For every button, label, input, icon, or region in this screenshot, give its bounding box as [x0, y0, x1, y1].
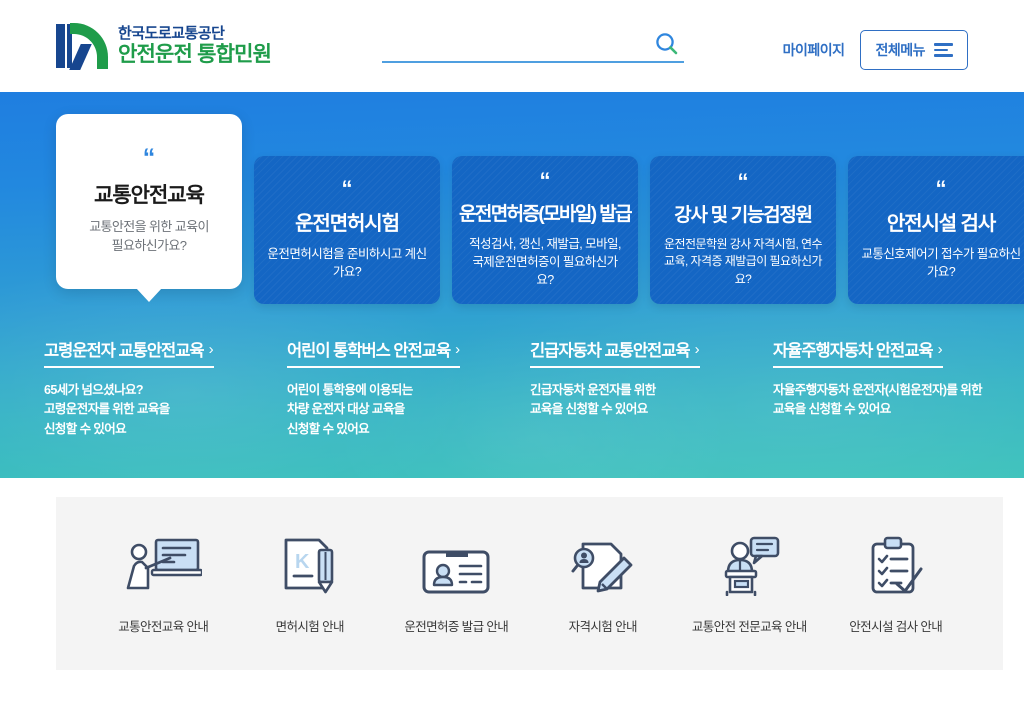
- guide-icon-panel: 교통안전교육 안내 K 면허시험 안내: [56, 497, 1003, 670]
- quote-mark-icon: “: [342, 179, 353, 199]
- chevron-right-icon: ›: [209, 342, 214, 357]
- service-card-desc: 교통안전을 위한 교육이 필요하신가요?: [89, 218, 209, 256]
- service-card[interactable]: “ 운전면허시험 운전면허시험을 준비하시고 계신가요?: [254, 156, 440, 304]
- service-card-title: 운전면허시험: [295, 207, 399, 236]
- icon-box: [718, 532, 780, 596]
- icon-box: [421, 532, 491, 596]
- guide-item-license-exam[interactable]: K 면허시험 안내: [237, 532, 384, 635]
- guide-item-label: 면허시험 안내: [276, 616, 344, 635]
- service-card-active[interactable]: “ 교통안전교육 교통안전을 위한 교육이 필요하신가요?: [56, 114, 242, 289]
- search-button[interactable]: [650, 28, 684, 62]
- quick-link-desc: 65세가 넘으셨나요? 고령운전자를 위한 교육을 신청할 수 있어요: [44, 381, 271, 439]
- logo-org-name: 한국도로교통공단: [118, 25, 271, 42]
- quick-link-autonomous-vehicle[interactable]: 자율주행자동차 안전교육 › 자율주행자동차 운전자(시험운전자)를 위한 교육…: [765, 337, 1008, 439]
- site-header: 한국도로교통공단 안전운전 통합민원 마이페이지 전체메뉴: [0, 0, 1024, 92]
- lecturer-podium-icon: [718, 536, 780, 596]
- quick-link-emergency-vehicle[interactable]: 긴급자동차 교통안전교육 › 긴급자동차 운전자를 위한 교육을 신청할 수 있…: [522, 337, 765, 439]
- quick-link-desc: 긴급자동차 운전자를 위한 교육을 신청할 수 있어요: [530, 381, 757, 420]
- guide-item-label: 교통안전 전문교육 안내: [692, 616, 807, 635]
- quick-link-title: 자율주행자동차 안전교육: [773, 337, 933, 361]
- service-card[interactable]: “ 안전시설 검사 교통신호제어기 접수가 필요하신가요?: [848, 156, 1024, 304]
- svg-text:K: K: [295, 551, 310, 573]
- service-card-title: 강사 및 기능검정원: [674, 200, 811, 227]
- all-menu-label: 전체메뉴: [875, 40, 925, 60]
- quote-mark-icon: “: [738, 172, 749, 192]
- guide-item-label: 자격시험 안내: [569, 616, 637, 635]
- service-card-desc: 적성검사, 갱신, 재발급, 모바일, 국제운전면허증이 필요하신가요?: [464, 235, 626, 289]
- logo-text: 한국도로교통공단 안전운전 통합민원: [118, 25, 271, 67]
- service-card-list: “ 교통안전교육 교통안전을 위한 교육이 필요하신가요? “ 운전면허시험 운…: [56, 114, 1024, 304]
- search-icon: [654, 31, 680, 57]
- quick-link-desc: 어린이 통학용에 이용되는 차량 운전자 대상 교육을 신청할 수 있어요: [287, 381, 514, 439]
- quick-link-title: 어린이 통학버스 안전교육: [287, 337, 450, 361]
- quote-mark-icon: “: [143, 147, 156, 170]
- guide-item-qualification-exam[interactable]: 자격시험 안내: [530, 532, 677, 635]
- mypage-link[interactable]: 마이페이지: [783, 40, 845, 60]
- guide-item-label: 교통안전교육 안내: [118, 616, 208, 635]
- site-logo[interactable]: 한국도로교통공단 안전운전 통합민원: [56, 22, 271, 70]
- guide-section: 교통안전교육 안내 K 면허시험 안내: [0, 478, 1024, 707]
- card-pointer: [136, 288, 162, 302]
- quick-link-header: 긴급자동차 교통안전교육 ›: [530, 337, 700, 368]
- chevron-right-icon: ›: [938, 342, 943, 357]
- search-input[interactable]: [382, 34, 684, 63]
- service-card-title: 안전시설 검사: [887, 207, 995, 236]
- document-pencil-icon: K: [279, 536, 341, 596]
- search-container: [382, 34, 684, 63]
- hero-section: “ 교통안전교육 교통안전을 위한 교육이 필요하신가요? “ 운전면허시험 운…: [0, 92, 1024, 478]
- quote-mark-icon: “: [936, 179, 947, 199]
- guide-item-label: 운전면허증 발급 안내: [404, 616, 508, 635]
- icon-box: [867, 532, 925, 596]
- logo-service-name: 안전운전 통합민원: [118, 43, 271, 67]
- quick-link-header: 고령운전자 교통안전교육 ›: [44, 337, 214, 368]
- service-card-desc: 교통신호제어기 접수가 필요하신가요?: [860, 245, 1022, 281]
- guide-item-facility-inspection[interactable]: 안전시설 검사 안내: [823, 532, 970, 635]
- guide-item-professional-education[interactable]: 교통안전 전문교육 안내: [676, 532, 823, 635]
- quick-link-school-bus[interactable]: 어린이 통학버스 안전교육 › 어린이 통학용에 이용되는 차량 운전자 대상 …: [279, 337, 522, 439]
- icon-box: [124, 532, 202, 596]
- id-card-icon: [421, 544, 491, 596]
- service-card[interactable]: “ 강사 및 기능검정원 운전전문학원 강사 자격시험, 연수교육, 자격증 재…: [650, 156, 836, 304]
- service-card-title: 운전면허증(모바일) 발급: [459, 199, 631, 226]
- clipboard-check-icon: [867, 536, 925, 596]
- quote-mark-icon: “: [540, 171, 551, 191]
- quick-link-header: 어린이 통학버스 안전교육 ›: [287, 337, 460, 368]
- chevron-right-icon: ›: [695, 342, 700, 357]
- teacher-whiteboard-icon: [124, 536, 202, 596]
- guide-item-traffic-safety-education[interactable]: 교통안전교육 안내: [90, 532, 237, 635]
- guide-item-label: 안전시설 검사 안내: [849, 616, 942, 635]
- quick-link-list: 고령운전자 교통안전교육 › 65세가 넘으셨나요? 고령운전자를 위한 교육을…: [36, 337, 1024, 439]
- guide-item-license-issue[interactable]: 운전면허증 발급 안내: [383, 532, 530, 635]
- document-search-pencil-icon: [569, 538, 637, 596]
- quick-link-title: 긴급자동차 교통안전교육: [530, 337, 690, 361]
- quick-link-header: 자율주행자동차 안전교육 ›: [773, 337, 943, 368]
- quick-link-senior-driver[interactable]: 고령운전자 교통안전교육 › 65세가 넘으셨나요? 고령운전자를 위한 교육을…: [36, 337, 279, 439]
- all-menu-button[interactable]: 전체메뉴: [860, 30, 968, 70]
- icon-box: [569, 532, 637, 596]
- service-card-desc: 운전면허시험을 준비하시고 계신가요?: [266, 245, 428, 281]
- icon-box: K: [279, 532, 341, 596]
- korad-logo-icon: [56, 22, 108, 70]
- hamburger-icon: [934, 43, 953, 57]
- quick-link-desc: 자율주행자동차 운전자(시험운전자)를 위한 교육을 신청할 수 있어요: [773, 381, 1000, 420]
- service-card[interactable]: “ 운전면허증(모바일) 발급 적성검사, 갱신, 재발급, 모바일, 국제운전…: [452, 156, 638, 304]
- service-card-desc: 운전전문학원 강사 자격시험, 연수교육, 자격증 재발급이 필요하신가요?: [662, 236, 824, 288]
- quick-link-title: 고령운전자 교통안전교육: [44, 337, 204, 361]
- service-card-title: 교통안전교육: [94, 179, 204, 209]
- chevron-right-icon: ›: [455, 342, 460, 357]
- header-actions: 마이페이지 전체메뉴: [783, 30, 968, 70]
